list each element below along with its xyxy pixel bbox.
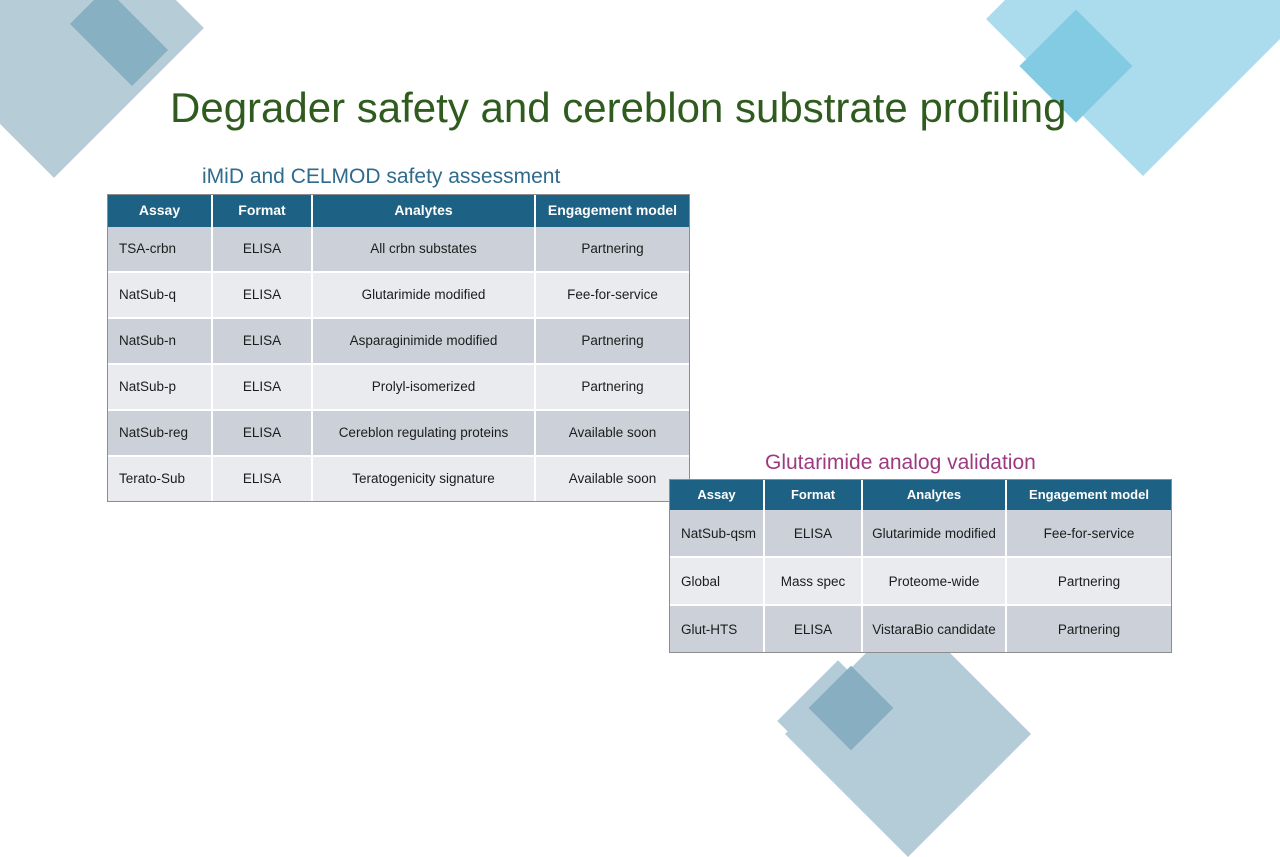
cell-analytes: Asparaginimide modified bbox=[312, 318, 535, 364]
table-body: NatSub-qsm ELISA Glutarimide modified Fe… bbox=[670, 510, 1171, 652]
table-row: NatSub-qsm ELISA Glutarimide modified Fe… bbox=[670, 510, 1171, 557]
cell-engagement-model: Fee-for-service bbox=[1006, 510, 1171, 557]
cell-format: ELISA bbox=[764, 605, 862, 652]
table-row: Glut-HTS ELISA VistaraBio candidate Part… bbox=[670, 605, 1171, 652]
cell-assay: NatSub-reg bbox=[108, 410, 212, 456]
cell-assay: NatSub-p bbox=[108, 364, 212, 410]
cell-format: ELISA bbox=[212, 227, 312, 272]
cell-analytes: Proteome-wide bbox=[862, 557, 1006, 605]
cell-assay: Glut-HTS bbox=[670, 605, 764, 652]
diamond-top-left-overlap bbox=[44, 0, 168, 112]
cell-analytes: VistaraBio candidate bbox=[862, 605, 1006, 652]
cell-format: ELISA bbox=[212, 364, 312, 410]
cell-analytes: Glutarimide modified bbox=[312, 272, 535, 318]
cell-analytes: Glutarimide modified bbox=[862, 510, 1006, 557]
cell-format: ELISA bbox=[212, 318, 312, 364]
table-row: Terato-Sub ELISA Teratogenicity signatur… bbox=[108, 456, 689, 501]
cell-analytes: Prolyl-isomerized bbox=[312, 364, 535, 410]
cell-engagement-model: Partnering bbox=[535, 364, 689, 410]
cell-engagement-model: Available soon bbox=[535, 456, 689, 501]
cell-analytes: Teratogenicity signature bbox=[312, 456, 535, 501]
cell-engagement-model: Fee-for-service bbox=[535, 272, 689, 318]
cell-assay: TSA-crbn bbox=[108, 227, 212, 272]
cell-assay: NatSub-qsm bbox=[670, 510, 764, 557]
column-header-analytes: Analytes bbox=[312, 195, 535, 227]
diamond-top-left-small bbox=[44, 0, 168, 112]
cell-format: ELISA bbox=[212, 272, 312, 318]
diamond-bottom-small bbox=[777, 660, 899, 782]
cell-format: ELISA bbox=[764, 510, 862, 557]
cell-assay: NatSub-q bbox=[108, 272, 212, 318]
safety-assessment-table: Assay Format Analytes Engagement model T… bbox=[108, 195, 689, 501]
table-body: TSA-crbn ELISA All crbn substates Partne… bbox=[108, 227, 689, 501]
table-row: NatSub-reg ELISA Cereblon regulating pro… bbox=[108, 410, 689, 456]
glutarimide-validation-table: Assay Format Analytes Engagement model N… bbox=[670, 480, 1171, 652]
cell-analytes: All crbn substates bbox=[312, 227, 535, 272]
cell-format: ELISA bbox=[212, 410, 312, 456]
column-header-format: Format bbox=[212, 195, 312, 227]
table-glutarimide-analog-validation: Assay Format Analytes Engagement model N… bbox=[669, 479, 1172, 653]
cell-assay: NatSub-n bbox=[108, 318, 212, 364]
table-row: NatSub-p ELISA Prolyl-isomerized Partner… bbox=[108, 364, 689, 410]
table-header: Assay Format Analytes Engagement model bbox=[670, 480, 1171, 510]
cell-format: ELISA bbox=[212, 456, 312, 501]
cell-assay: Terato-Sub bbox=[108, 456, 212, 501]
section-subtitle-imid-celmod: iMiD and CELMOD safety assessment bbox=[202, 164, 560, 189]
cell-engagement-model: Partnering bbox=[1006, 605, 1171, 652]
cell-engagement-model: Available soon bbox=[535, 410, 689, 456]
table-row: NatSub-n ELISA Asparaginimide modified P… bbox=[108, 318, 689, 364]
table-header: Assay Format Analytes Engagement model bbox=[108, 195, 689, 227]
column-header-format: Format bbox=[764, 480, 862, 510]
table-imid-celmod-safety: Assay Format Analytes Engagement model T… bbox=[107, 194, 690, 502]
cell-engagement-model: Partnering bbox=[535, 318, 689, 364]
column-header-engagement-model: Engagement model bbox=[535, 195, 689, 227]
cell-engagement-model: Partnering bbox=[1006, 557, 1171, 605]
section-subtitle-glutarimide-analog: Glutarimide analog validation bbox=[765, 450, 1036, 475]
cell-format: Mass spec bbox=[764, 557, 862, 605]
column-header-analytes: Analytes bbox=[862, 480, 1006, 510]
table-header-row: Assay Format Analytes Engagement model bbox=[108, 195, 689, 227]
cell-analytes: Cereblon regulating proteins bbox=[312, 410, 535, 456]
cell-engagement-model: Partnering bbox=[535, 227, 689, 272]
column-header-assay: Assay bbox=[670, 480, 764, 510]
slide-title: Degrader safety and cereblon substrate p… bbox=[170, 84, 1067, 132]
table-row: TSA-crbn ELISA All crbn substates Partne… bbox=[108, 227, 689, 272]
cell-assay: Global bbox=[670, 557, 764, 605]
table-row: NatSub-q ELISA Glutarimide modified Fee-… bbox=[108, 272, 689, 318]
diamond-bottom-overlap bbox=[809, 666, 894, 751]
column-header-engagement-model: Engagement model bbox=[1006, 480, 1171, 510]
table-header-row: Assay Format Analytes Engagement model bbox=[670, 480, 1171, 510]
column-header-assay: Assay bbox=[108, 195, 212, 227]
table-row: Global Mass spec Proteome-wide Partnerin… bbox=[670, 557, 1171, 605]
